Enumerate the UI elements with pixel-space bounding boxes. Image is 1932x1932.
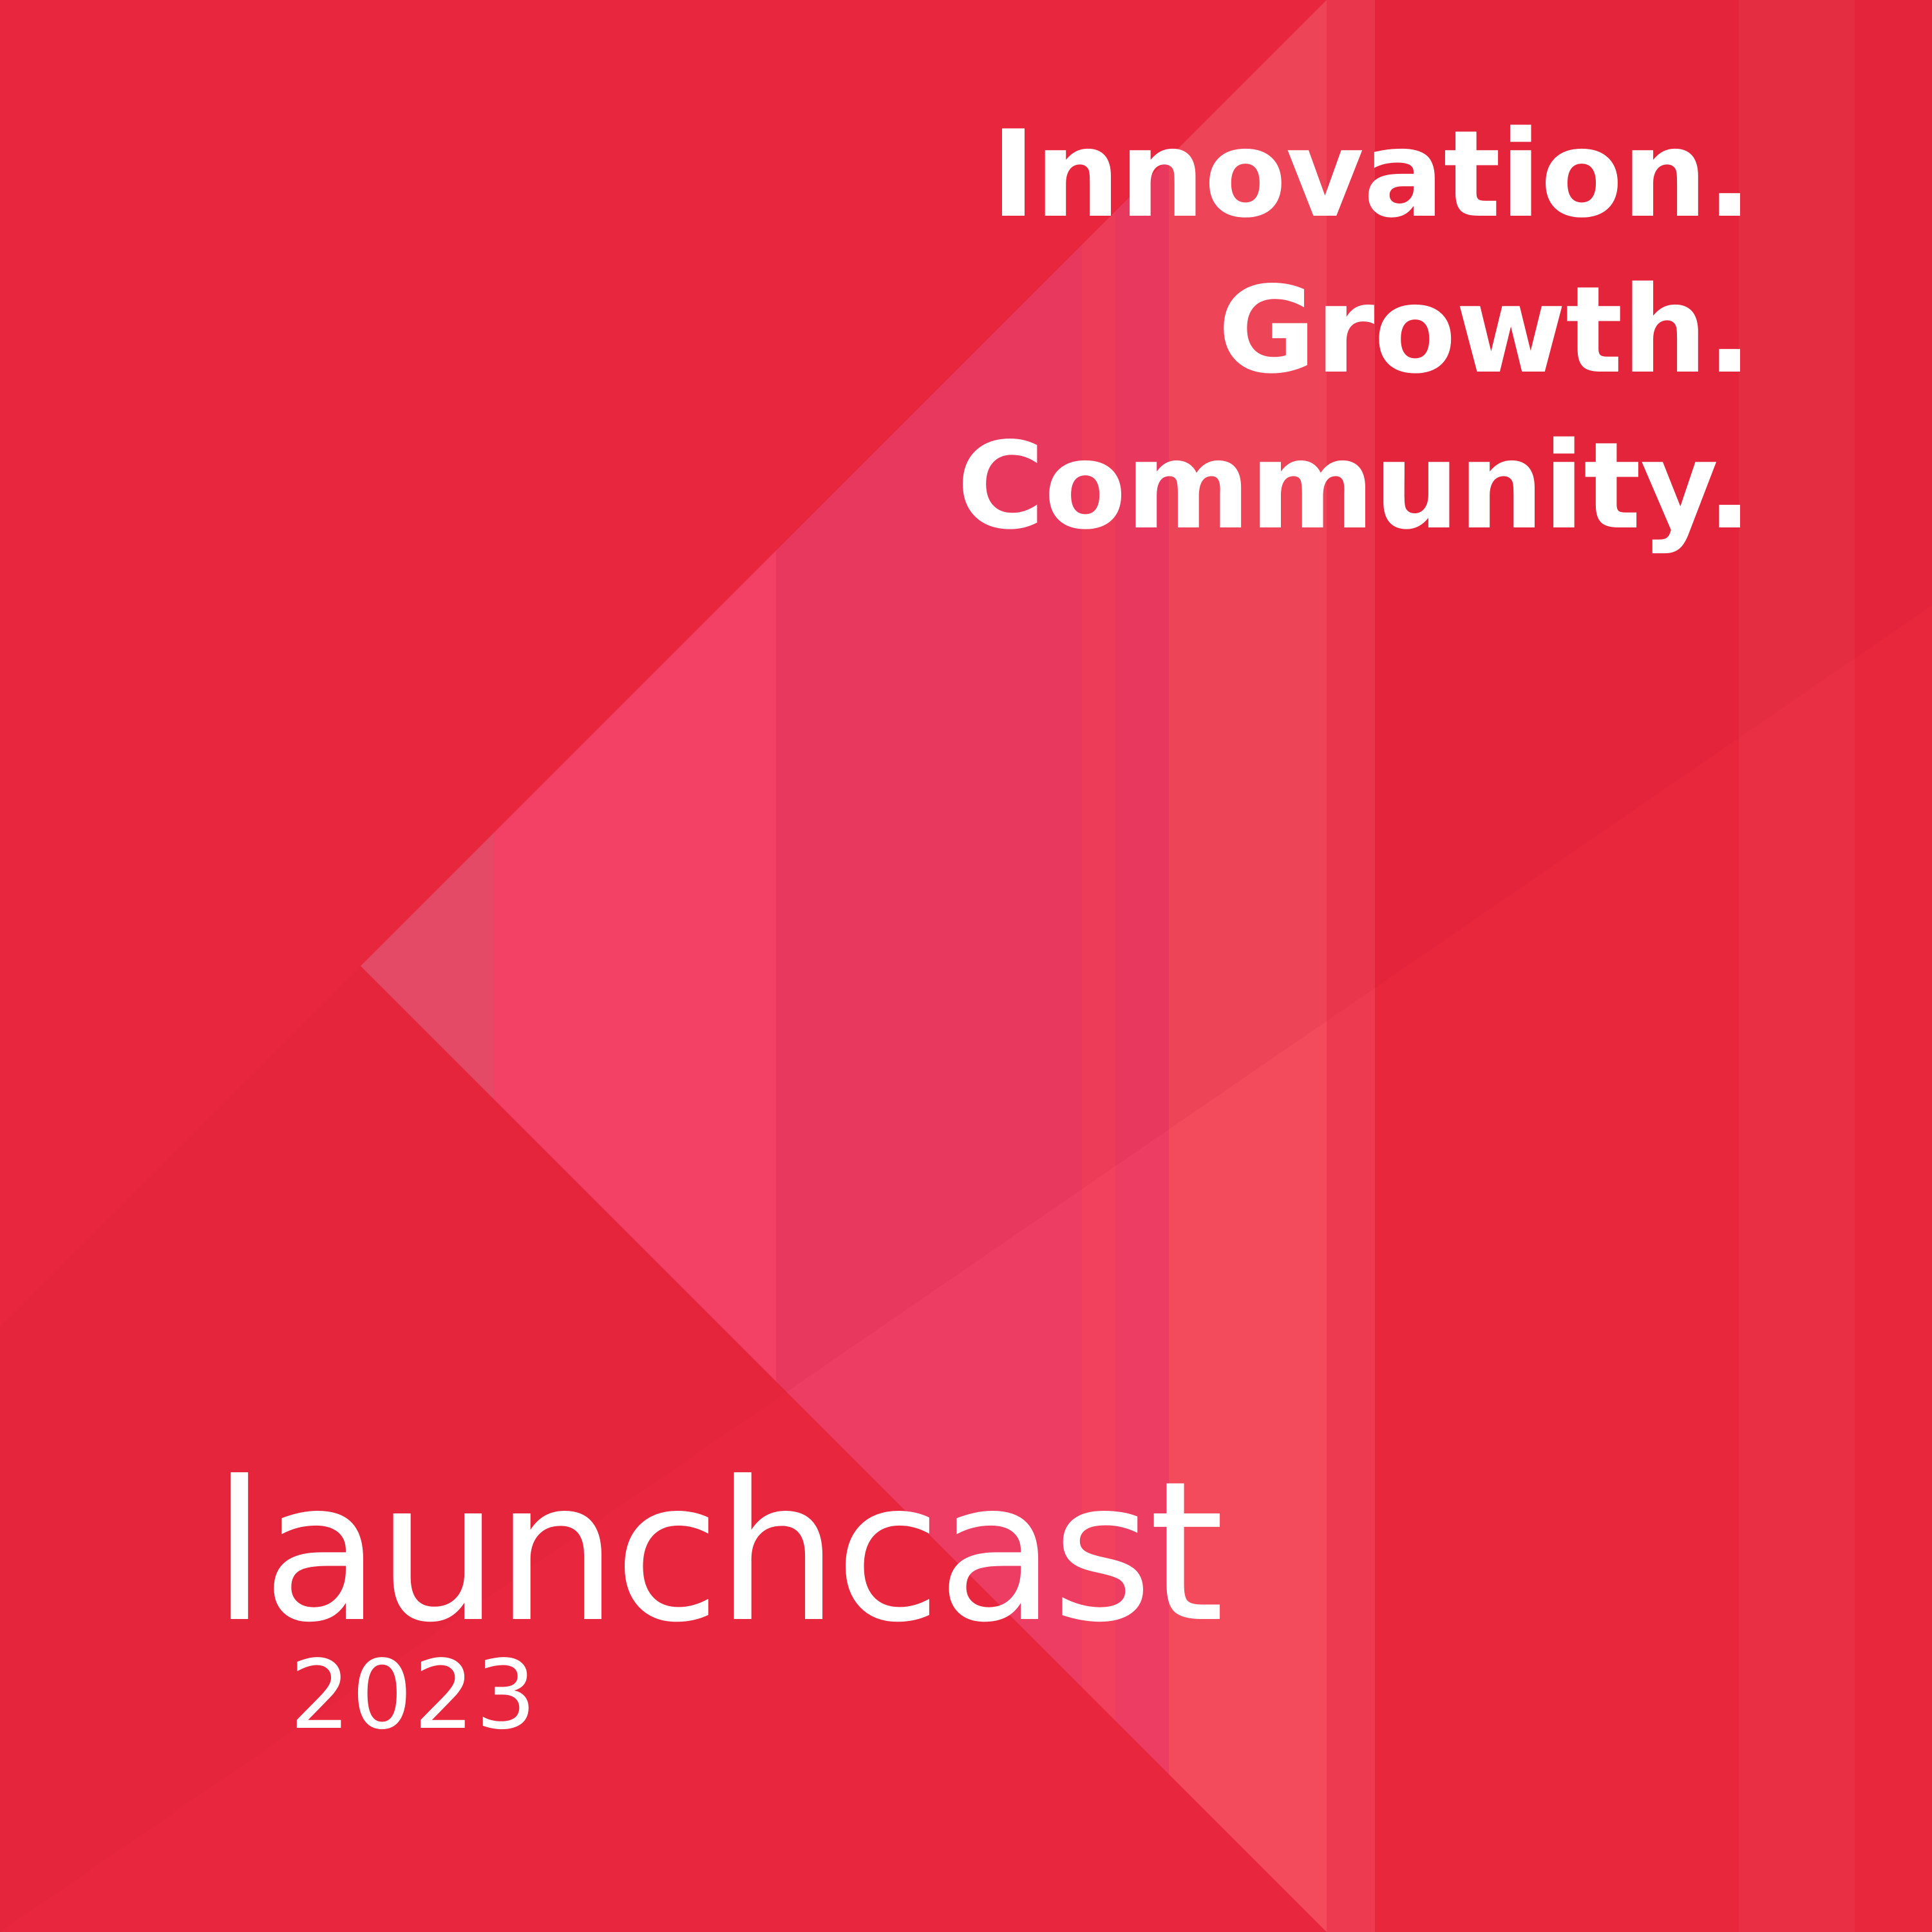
poster-canvas: Innovation. Growth. Community. launchcas… [0, 0, 1932, 1932]
tagline-line-2: Growth. [399, 252, 1752, 408]
brand-wordmark: launchcast [213, 1464, 1220, 1642]
tagline: Innovation. Growth. Community. [399, 97, 1752, 563]
logo-lockup: launchcast 2023 [213, 1464, 1220, 1745]
tagline-line-3: Community. [399, 408, 1752, 564]
tagline-line-1: Innovation. [399, 97, 1752, 252]
